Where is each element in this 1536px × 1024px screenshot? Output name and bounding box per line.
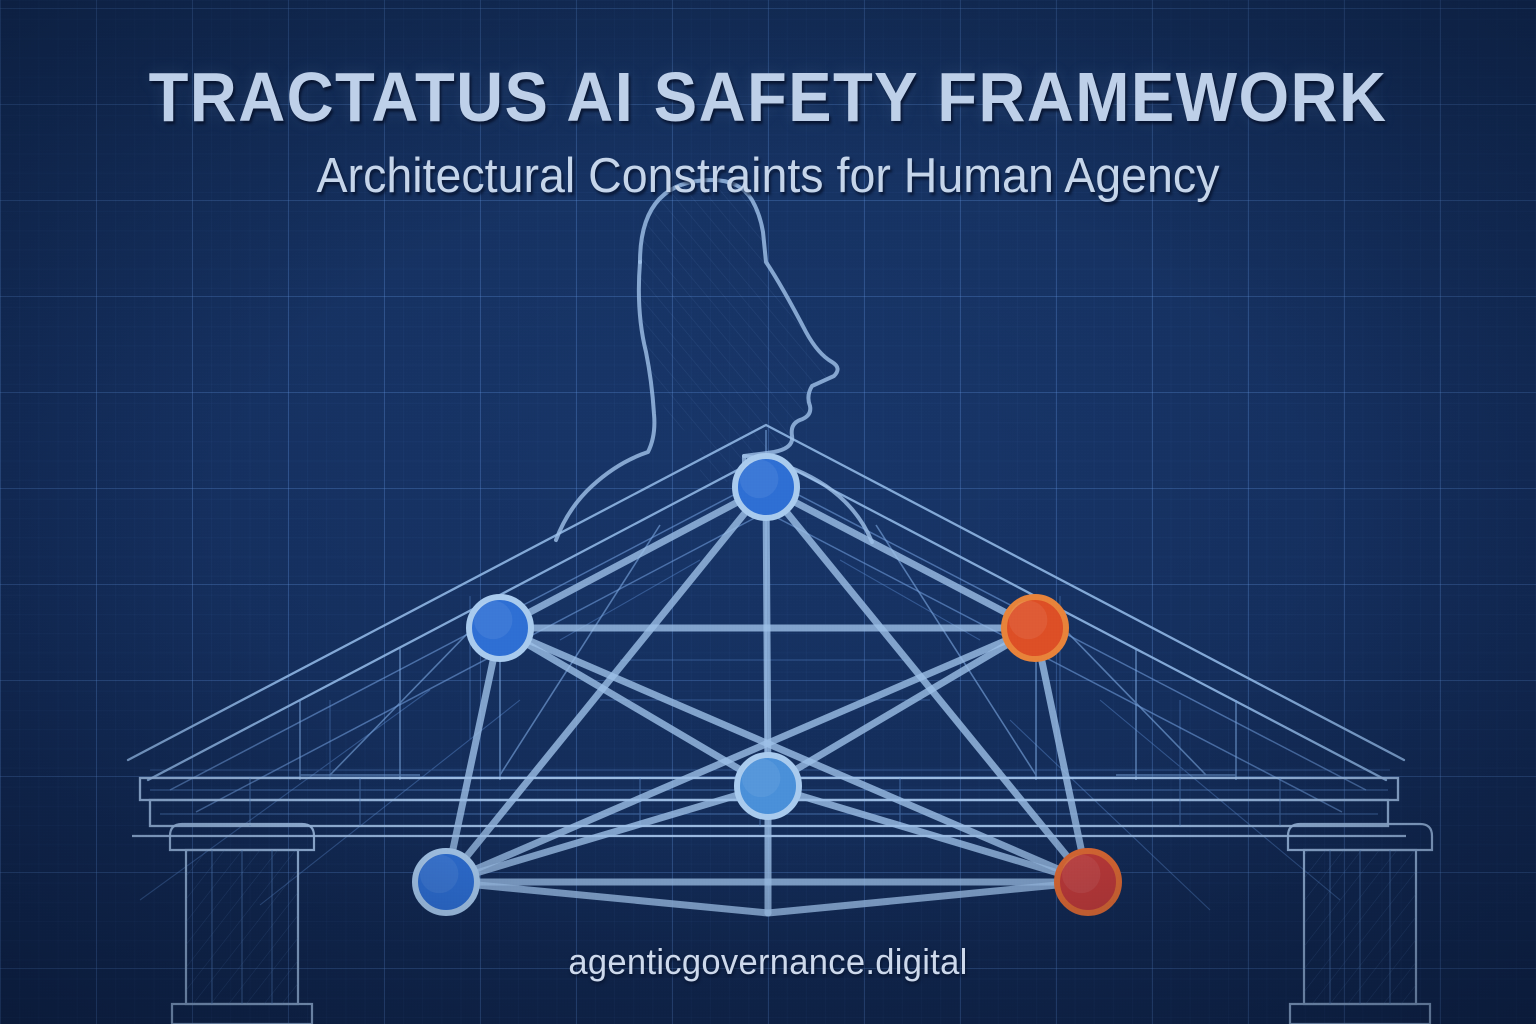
footer-url[interactable]: agenticgovernance.digital <box>31 941 1506 983</box>
poster-canvas: TRACTATUS AI SAFETY FRAMEWORK Architectu… <box>0 0 1536 1024</box>
paper-texture-overlay <box>0 0 1536 1024</box>
